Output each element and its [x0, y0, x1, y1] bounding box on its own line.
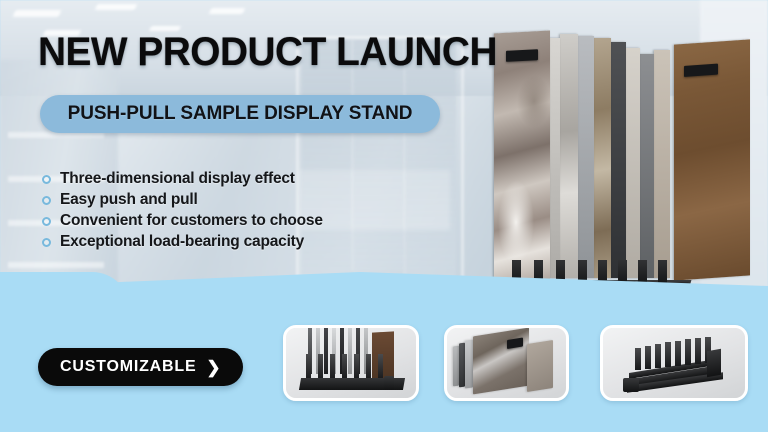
thumbnail-gallery	[0, 0, 768, 432]
rack-slat	[635, 348, 641, 370]
stone-slab-back	[527, 340, 553, 392]
base-slat	[378, 354, 383, 380]
panel-slat	[324, 327, 328, 374]
thumbnail-item[interactable]	[600, 325, 748, 401]
thumbnail-image	[447, 328, 566, 398]
base-slat	[342, 354, 347, 380]
thumbnail-image	[286, 328, 416, 398]
base-slat	[354, 354, 359, 380]
thumbnail-item[interactable]	[444, 325, 569, 401]
rack-upright	[707, 349, 721, 377]
base-slat	[318, 354, 323, 380]
rack-slat	[675, 341, 681, 366]
rack-slat	[695, 338, 701, 364]
thumbnail-item[interactable]	[283, 325, 419, 401]
base-foot	[384, 376, 394, 390]
rack-slat	[665, 342, 671, 367]
rack-slat	[685, 339, 691, 365]
slab-edge	[465, 339, 473, 388]
base-slat	[366, 354, 371, 380]
promo-banner: NEW PRODUCT LAUNCH PUSH-PULL SAMPLE DISP…	[0, 0, 768, 432]
stone-slab-main	[473, 328, 529, 395]
base-slat	[330, 354, 335, 380]
panel-slat	[348, 325, 352, 374]
rack-slat	[655, 344, 661, 368]
thumbnail-image	[603, 328, 745, 398]
rack-foot	[623, 378, 639, 392]
base-slat	[306, 354, 311, 380]
rack-slat	[645, 346, 651, 369]
slab-label-tag	[507, 338, 523, 350]
